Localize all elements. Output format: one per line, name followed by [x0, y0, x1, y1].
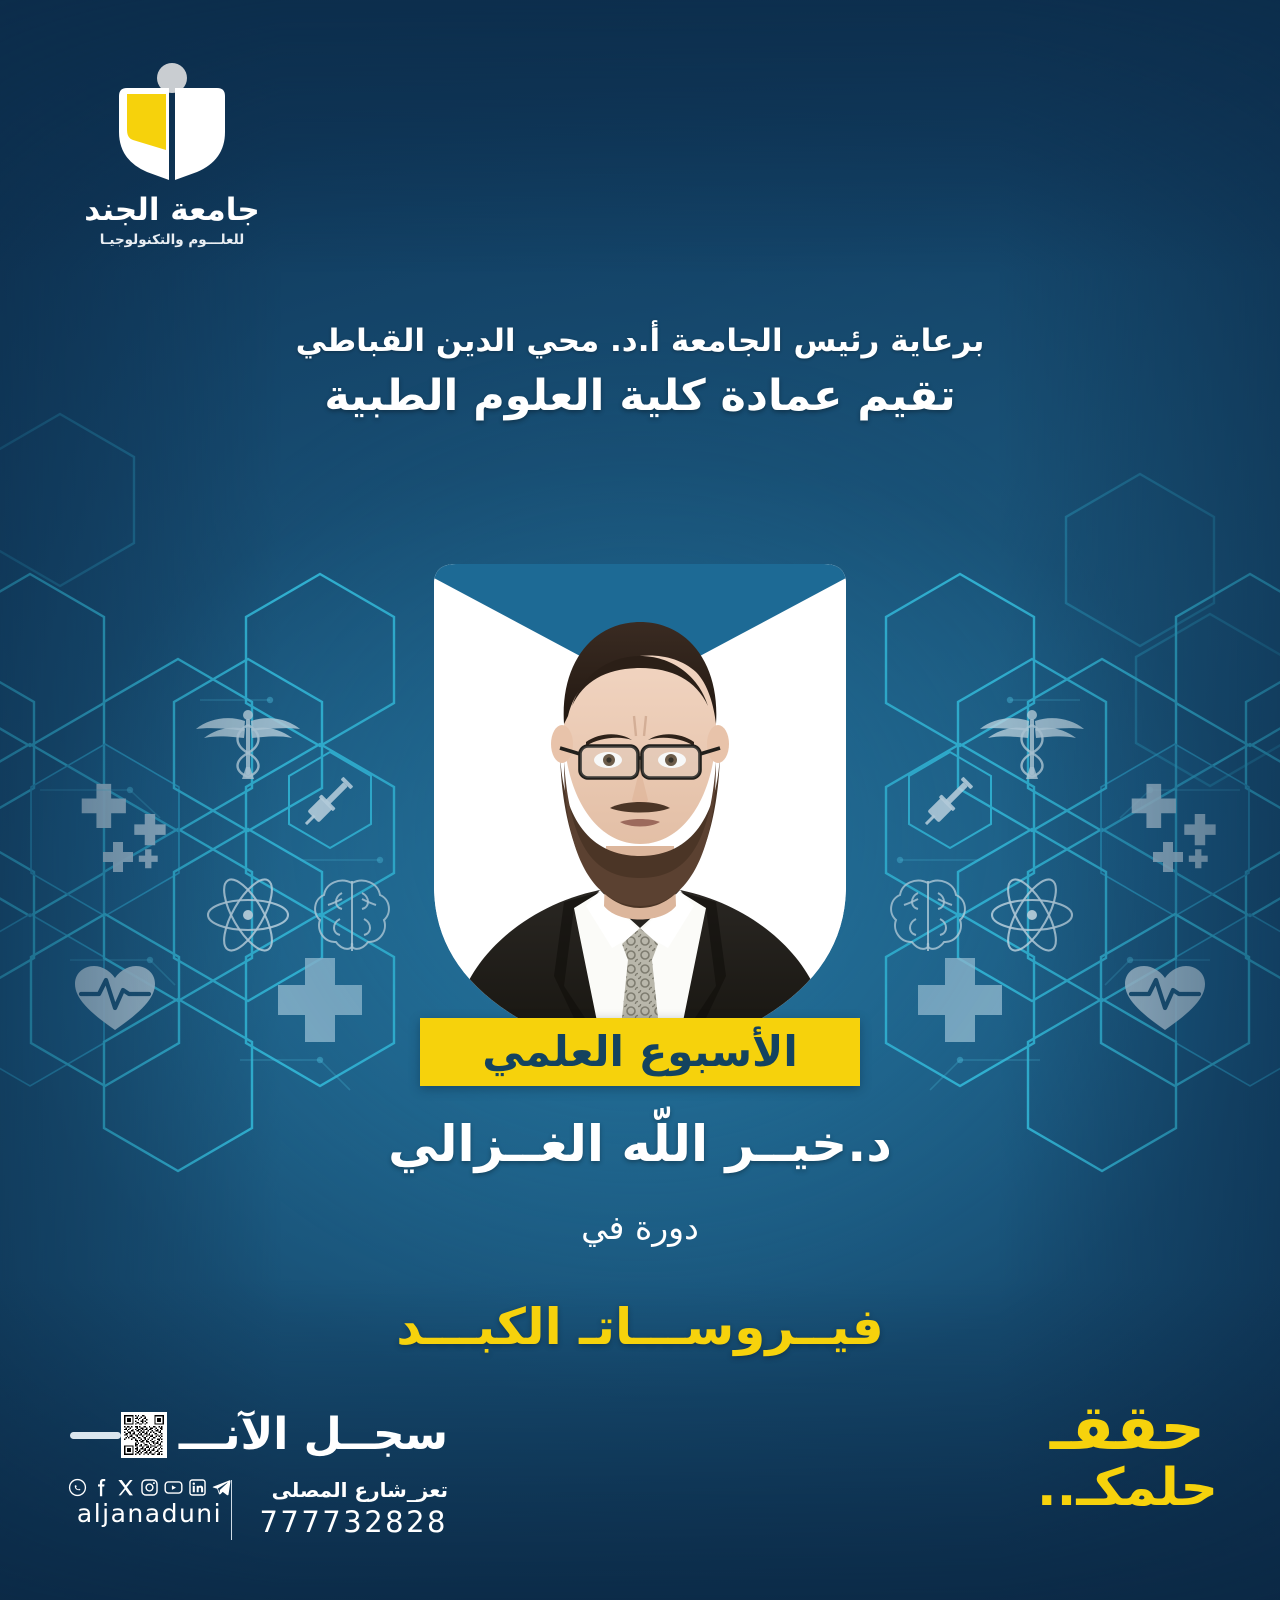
youtube-icon[interactable] — [164, 1478, 183, 1497]
course-label: دورة في — [0, 1208, 1280, 1247]
poster-canvas: جامعة الجند للعلـــوم والتكنولوجيـا برعا… — [0, 0, 1280, 1600]
facebook-icon[interactable] — [92, 1478, 111, 1497]
instagram-icon[interactable] — [140, 1478, 159, 1497]
footer-register-block: سجــل الآنـــ — [68, 1402, 448, 1542]
logo-university-name: جامعة الجند — [72, 194, 272, 227]
scientific-week-label: الأسبوع العلمي — [482, 1031, 797, 1073]
logo-university-subtitle: للعلـــوم والتكنولوجيـا — [72, 232, 272, 248]
university-logo: جامعة الجند للعلـــوم والتكنولوجيـا — [72, 62, 272, 248]
address-text: تعز_شارع المصلى — [259, 1478, 448, 1503]
telegram-icon[interactable] — [212, 1478, 231, 1497]
scientific-week-banner: الأسبوع العلمي — [420, 1018, 860, 1086]
slogan-block: حققـ حلمكـ.. — [1037, 1398, 1218, 1514]
registration-qr-code[interactable] — [121, 1412, 167, 1458]
header-text-block: برعاية رئيس الجامعة أ.د. محي الدين القبا… — [0, 322, 1280, 422]
slogan-line-1: حققـ — [1037, 1398, 1218, 1459]
register-now-label: سجــل الآنـــ — [179, 1413, 448, 1457]
slogan-line-2: حلمكـ.. — [1037, 1463, 1218, 1514]
x-twitter-icon[interactable] — [116, 1478, 135, 1497]
linkedin-icon[interactable] — [188, 1478, 207, 1497]
register-row[interactable]: سجــل الآنـــ — [68, 1402, 448, 1468]
contact-address-phone: تعز_شارع المصلى 777732828 — [245, 1478, 448, 1542]
social-handle[interactable]: aljanaduni — [68, 1499, 231, 1528]
social-block: aljanaduni — [68, 1478, 231, 1528]
phone-number[interactable]: 777732828 — [259, 1504, 448, 1542]
social-icons-row — [68, 1478, 231, 1497]
instructor-portrait — [414, 556, 866, 1056]
register-underline — [70, 1432, 121, 1439]
course-title: فيــروســـاتـ الكبـــد — [0, 1298, 1280, 1356]
speaker-name: د.خيــر اللّه الغــزالي — [0, 1115, 1280, 1173]
patronage-line: برعاية رئيس الجامعة أ.د. محي الدين القبا… — [0, 322, 1280, 361]
open-book-logo-icon — [97, 62, 247, 182]
footer-contact-info: تعز_شارع المصلى 777732828 — [68, 1478, 448, 1542]
organizer-line: تقيم عمادة كلية العلوم الطبية — [0, 370, 1280, 422]
instructor-photo — [414, 556, 866, 1056]
whatsapp-icon[interactable] — [68, 1478, 87, 1497]
